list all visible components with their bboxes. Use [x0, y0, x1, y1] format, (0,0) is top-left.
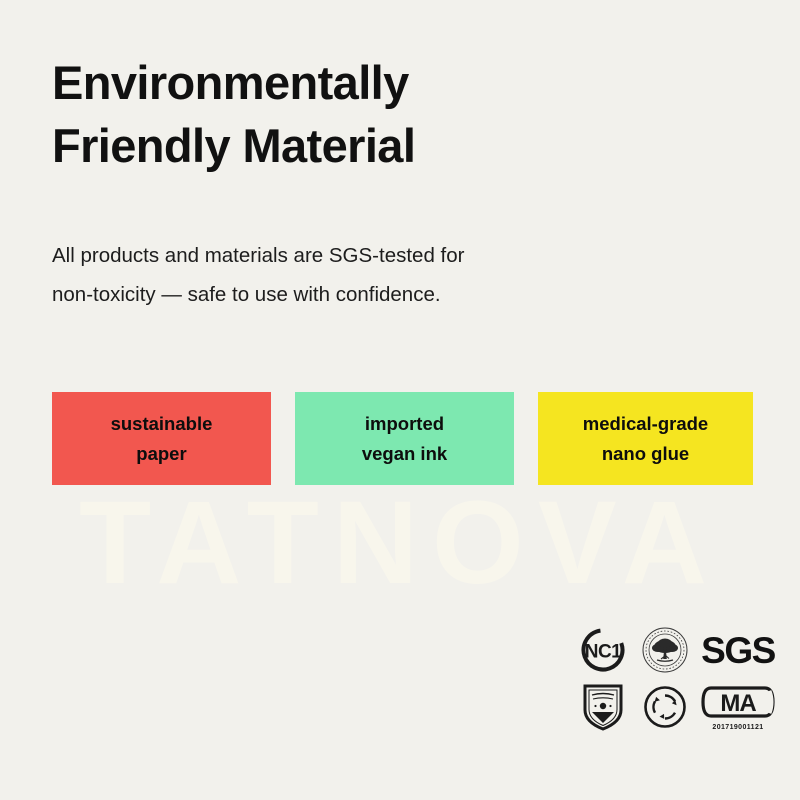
page-title-line-1: Environmentally: [52, 52, 692, 115]
brand-watermark: TATNOVA: [0, 484, 800, 602]
certification-sgs: SGS: [701, 632, 775, 669]
shield-chevron-icon: [582, 682, 624, 732]
nc1-circle-icon: NC1: [580, 627, 626, 673]
material-badge-label-line-2: paper: [136, 439, 186, 469]
material-badge-list: sustainable paper imported vegan ink med…: [52, 392, 753, 485]
certification-logo-grid: NC1 SGS: [572, 622, 780, 744]
subtitle: All products and materials are SGS-teste…: [52, 236, 672, 315]
material-badge-medical-grade-nano-glue: medical-grade nano glue: [538, 392, 753, 485]
certification-forestry-seal: [641, 626, 689, 674]
certification-quality-shield: [582, 682, 624, 732]
material-badge-label-line-1: sustainable: [111, 409, 213, 439]
page-title: Environmentally Friendly Material: [52, 52, 692, 177]
material-badge-sustainable-paper: sustainable paper: [52, 392, 271, 485]
material-badge-label-line-1: imported: [365, 409, 444, 439]
recycling-arrows-icon: [642, 684, 688, 730]
material-badge-label-line-2: nano glue: [602, 439, 689, 469]
material-badge-label-line-1: medical-grade: [583, 409, 708, 439]
page-title-line-2: Friendly Material: [52, 115, 692, 178]
cma-oval-icon: MA: [699, 683, 777, 721]
material-badge-label-line-2: vegan ink: [362, 439, 447, 469]
certification-nc1: NC1: [580, 627, 626, 673]
certification-cma: MA 201719001121: [699, 683, 777, 731]
svg-text:MA: MA: [720, 690, 756, 717]
forestry-tree-seal-icon: [641, 626, 689, 674]
cma-certificate-number: 201719001121: [712, 724, 763, 731]
sgs-wordmark: SGS: [701, 632, 775, 669]
material-badge-imported-vegan-ink: imported vegan ink: [295, 392, 514, 485]
svg-text:NC1: NC1: [585, 642, 622, 663]
subtitle-line-2: non-toxicity — safe to use with confiden…: [52, 275, 672, 314]
certification-recyclable: [642, 684, 688, 730]
subtitle-line-1: All products and materials are SGS-teste…: [52, 236, 672, 275]
